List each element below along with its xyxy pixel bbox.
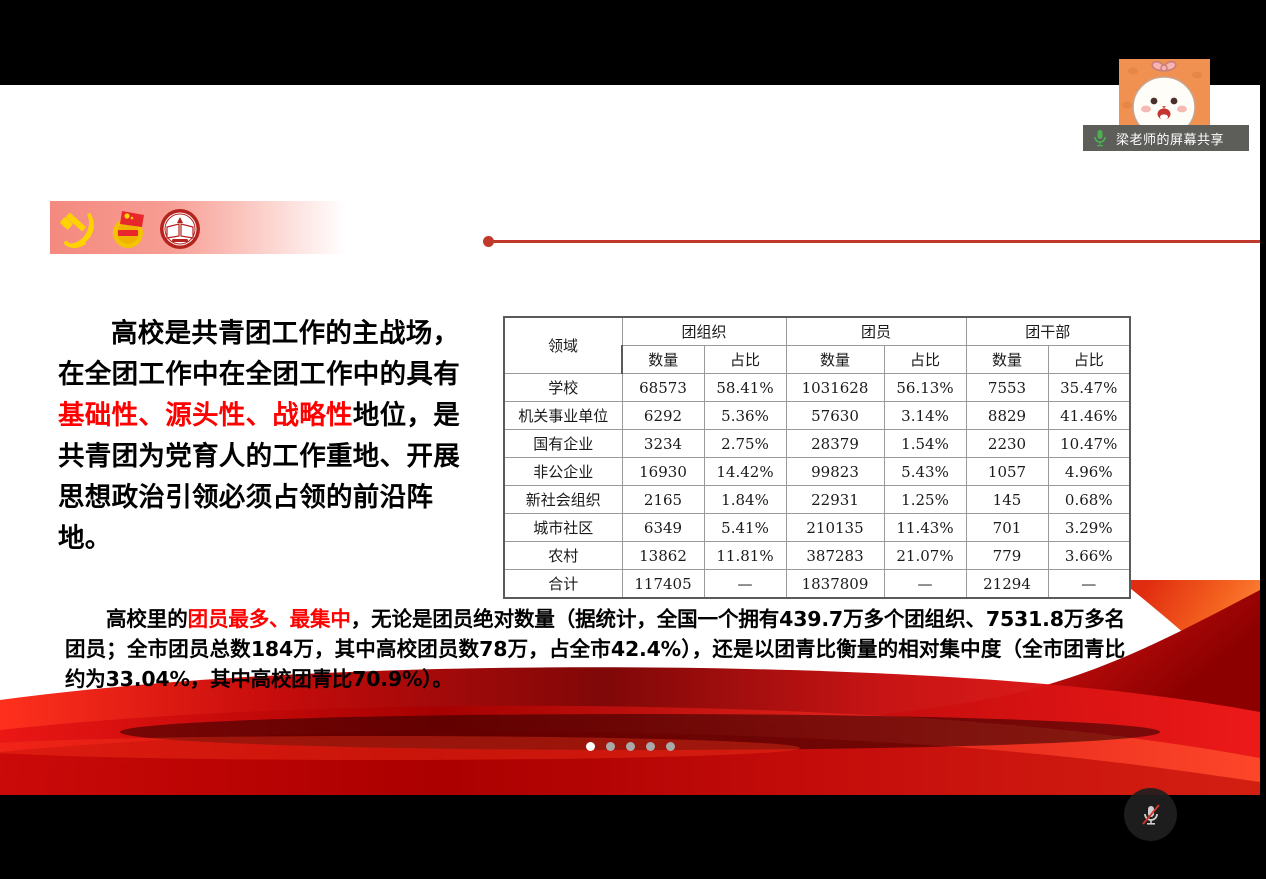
slide-pager[interactable] [586,742,675,751]
header-org: 团组织 [622,317,786,346]
subheader-member-pct: 占比 [884,346,966,374]
statistics-table: 领域 团组织 团员 团干部 数量 占比 数量 占比 数量 占比 学校685735… [503,316,1131,599]
left-para-highlight: 基础性、源头性、战略性 [58,400,353,431]
cell-org-pct: 5.36% [704,402,786,430]
cell-org-pct: 5.41% [704,514,786,542]
microphone-icon [1093,129,1107,147]
pager-dot-3[interactable] [626,742,635,751]
rabbit-avatar-icon [1119,59,1210,126]
cell-cadre-count: 701 [966,514,1048,542]
subheader-member-count: 数量 [786,346,884,374]
cell-org-count: 16930 [622,458,704,486]
cell-org-count: 6349 [622,514,704,542]
microphone-muted-button[interactable] [1124,788,1177,841]
red-rule [487,240,1260,243]
cell-domain: 农村 [504,542,622,570]
pager-dot-1[interactable] [586,742,595,751]
header-domain: 领域 [504,317,622,374]
cell-cadre-count: 1057 [966,458,1048,486]
table-row: 机关事业单位62925.36%576303.14%882941.46% [504,402,1130,430]
cell-domain: 城市社区 [504,514,622,542]
cell-cadre-pct: 3.66% [1048,542,1130,570]
table-group-header-row: 领域 团组织 团员 团干部 [504,317,1130,346]
header-member: 团员 [786,317,966,346]
cell-total-cadre-pct: — [1048,570,1130,599]
cell-member-count: 99823 [786,458,884,486]
cell-cadre-pct: 10.47% [1048,430,1130,458]
cell-org-count: 3234 [622,430,704,458]
cell-cadre-count: 779 [966,542,1048,570]
cell-cadre-pct: 4.96% [1048,458,1130,486]
cell-total-member-pct: — [884,570,966,599]
cell-org-pct: 58.41% [704,374,786,402]
table-row: 非公企业1693014.42%998235.43%10574.96% [504,458,1130,486]
hammer-sickle-icon [56,207,100,251]
subheader-org-pct: 占比 [704,346,786,374]
school-emblem [158,207,202,251]
cell-cadre-count: 145 [966,486,1048,514]
cell-domain: 新社会组织 [504,486,622,514]
cell-member-pct: 5.43% [884,458,966,486]
cell-domain: 机关事业单位 [504,402,622,430]
presentation-slide: 高校是共青团工作的主战场，在全团工作中在全团工作中的具有基础性、源头性、战略性地… [0,85,1260,795]
table-total-row: 合计117405—1837809—21294— [504,570,1130,599]
cell-total-cadre-count: 21294 [966,570,1048,599]
table-row: 学校6857358.41%103162856.13%755335.47% [504,374,1130,402]
cell-org-count: 6292 [622,402,704,430]
youth-league-icon [106,207,150,251]
left-para-part-1: 高校是共青团工作的主战场，在全团工作中在全团工作中的具有 [58,318,460,390]
cell-member-pct: 11.43% [884,514,966,542]
cell-member-pct: 1.25% [884,486,966,514]
cell-org-pct: 14.42% [704,458,786,486]
statistics-table-container: 领域 团组织 团员 团干部 数量 占比 数量 占比 数量 占比 学校685735… [503,316,1131,599]
cell-cadre-pct: 0.68% [1048,486,1130,514]
cell-org-pct: 11.81% [704,542,786,570]
cell-member-count: 57630 [786,402,884,430]
cell-member-pct: 56.13% [884,374,966,402]
cell-total-org-count: 117405 [622,570,704,599]
cell-cadre-count: 8829 [966,402,1048,430]
pager-dot-4[interactable] [646,742,655,751]
cell-total-org-pct: — [704,570,786,599]
cell-org-count: 13862 [622,542,704,570]
cell-org-pct: 1.84% [704,486,786,514]
table-row: 农村1386211.81%38728321.07%7793.66% [504,542,1130,570]
subheader-cadre-count: 数量 [966,346,1048,374]
university-crest-icon [158,207,202,251]
bottom-para-part-1: 高校里的 [106,607,188,631]
cell-cadre-pct: 41.46% [1048,402,1130,430]
cell-org-count: 68573 [622,374,704,402]
cell-domain: 国有企业 [504,430,622,458]
header-cadre: 团干部 [966,317,1130,346]
communist-party-emblem [56,207,100,251]
cell-member-pct: 3.14% [884,402,966,430]
subheader-org-count: 数量 [622,346,704,374]
header-band [50,201,345,254]
cell-member-count: 22931 [786,486,884,514]
bottom-para-highlight: 团员最多、最集中 [188,607,351,631]
table-row: 城市社区63495.41%21013511.43%7013.29% [504,514,1130,542]
cell-total-label: 合计 [504,570,622,599]
bottom-paragraph: 高校里的团员最多、最集中，无论是团员绝对数量（据统计，全国一个拥有439.7万多… [65,604,1125,694]
cell-cadre-count: 7553 [966,374,1048,402]
microphone-muted-icon [1137,801,1165,829]
screen-share-window: 高校是共青团工作的主战场，在全团工作中在全团工作中的具有基础性、源头性、战略性地… [0,0,1266,879]
cell-domain: 非公企业 [504,458,622,486]
cell-org-count: 2165 [622,486,704,514]
table-row: 新社会组织21651.84%229311.25%1450.68% [504,486,1130,514]
communist-youth-league-emblem [106,207,150,251]
left-paragraph: 高校是共青团工作的主战场，在全团工作中在全团工作中的具有基础性、源头性、战略性地… [58,313,480,559]
cell-member-count: 1031628 [786,374,884,402]
screen-share-status-bar: 梁老师的屏幕共享 [1083,125,1249,151]
cell-total-member-count: 1837809 [786,570,884,599]
pager-dot-2[interactable] [606,742,615,751]
cell-cadre-pct: 3.29% [1048,514,1130,542]
cell-cadre-pct: 35.47% [1048,374,1130,402]
presenter-avatar[interactable] [1119,59,1210,126]
cell-org-pct: 2.75% [704,430,786,458]
cell-cadre-count: 2230 [966,430,1048,458]
cell-member-pct: 1.54% [884,430,966,458]
cell-member-count: 28379 [786,430,884,458]
cell-member-pct: 21.07% [884,542,966,570]
cell-member-count: 387283 [786,542,884,570]
subheader-cadre-pct: 占比 [1048,346,1130,374]
table-row: 国有企业32342.75%283791.54%223010.47% [504,430,1130,458]
cell-member-count: 210135 [786,514,884,542]
cell-domain: 学校 [504,374,622,402]
share-label: 梁老师的屏幕共享 [1116,129,1224,148]
pager-dot-5[interactable] [666,742,675,751]
